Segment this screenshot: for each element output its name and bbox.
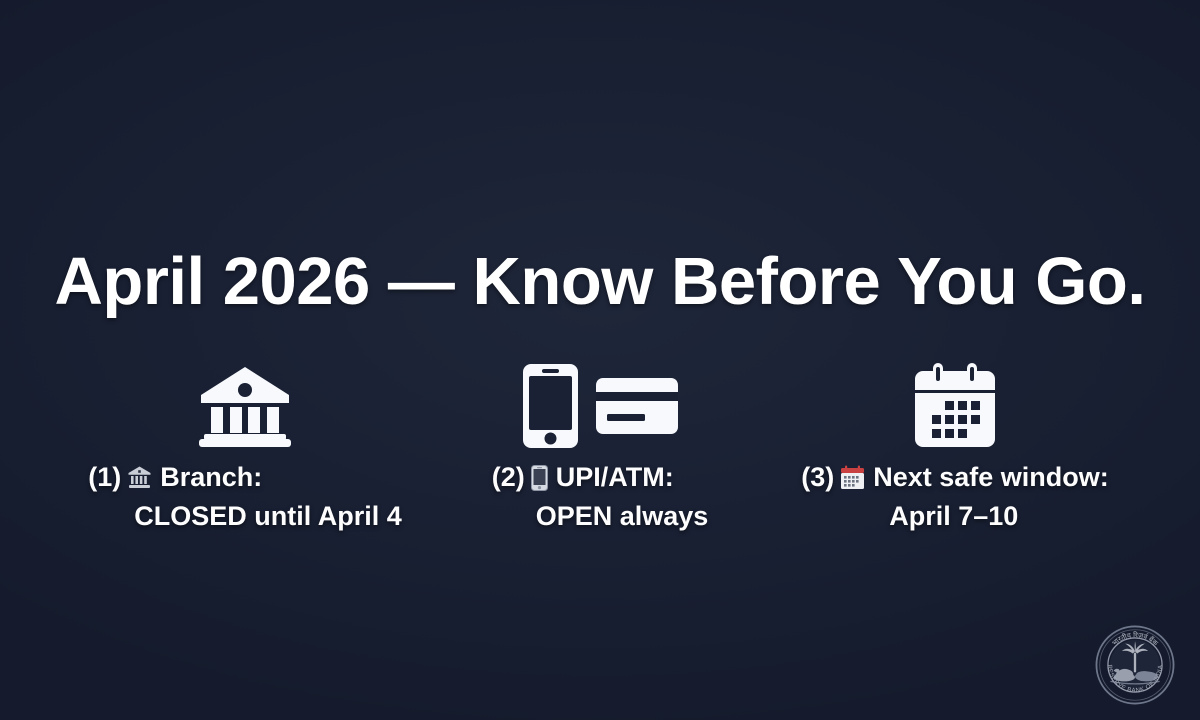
next-safe-window-label: Next safe window: xyxy=(873,458,1109,497)
upi-atm-icon-row xyxy=(523,360,678,452)
branch-label: Branch: xyxy=(160,458,262,497)
calendar-emoji xyxy=(840,465,865,490)
next-safe-window-item-number: (3) xyxy=(801,458,834,497)
upi-atm-status: OPEN always xyxy=(536,497,709,536)
credit-card-icon xyxy=(596,378,678,434)
calendar-icon xyxy=(913,363,997,449)
branch-icon-row xyxy=(199,360,291,452)
info-columns: (1) Branch: xyxy=(60,360,1140,536)
classical-building-emoji xyxy=(127,465,152,490)
upi-atm-caption: (2) UPI/ATM: OPEN always xyxy=(492,458,709,536)
column-branch: (1) Branch: xyxy=(60,360,430,536)
smartphone-icon xyxy=(523,364,578,448)
page-title: April 2026 — Know Before You Go. xyxy=(0,248,1200,315)
upi-atm-item-number: (2) xyxy=(492,458,525,497)
mobile-phone-emoji xyxy=(531,465,548,491)
next-safe-window-caption: (3) xyxy=(801,458,1109,536)
rbi-seal-watermark: भारतीय रिज़र्व बैंक RESERVE BANK OF INDI… xyxy=(1094,624,1176,706)
slide-canvas: April 2026 — Know Before You Go. xyxy=(0,0,1200,720)
branch-item-number: (1) xyxy=(88,458,121,497)
calendar-icon-row xyxy=(913,360,997,452)
next-safe-window-dates: April 7–10 xyxy=(889,497,1018,536)
bank-building-icon xyxy=(199,365,291,447)
branch-caption: (1) Branch: xyxy=(88,458,402,536)
column-next-safe-window: (3) xyxy=(770,360,1140,536)
column-upi-atm: (2) UPI/ATM: OPEN always xyxy=(450,360,750,536)
upi-atm-label: UPI/ATM: xyxy=(556,458,674,497)
branch-status: CLOSED until April 4 xyxy=(134,497,402,536)
